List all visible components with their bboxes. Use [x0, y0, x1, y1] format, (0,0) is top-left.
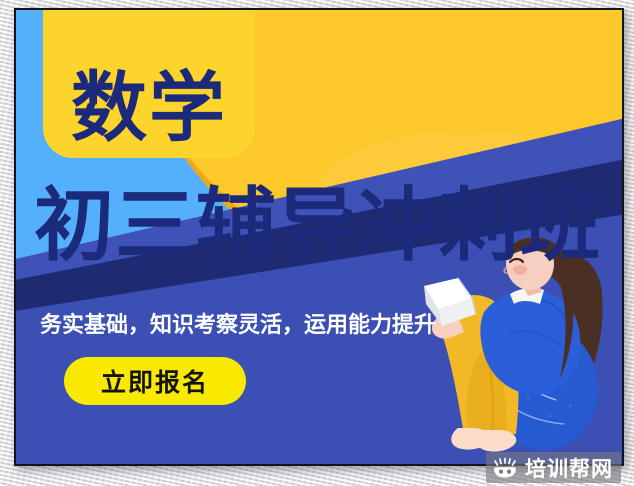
poster-canvas: 数学 初三辅导冲刺班 务实基础，知识考察灵活，运用能力提升 立即报名 [16, 10, 622, 464]
page-backdrop: 数学 初三辅导冲刺班 务实基础，知识考察灵活，运用能力提升 立即报名 [0, 0, 634, 486]
subject-label: 数学 [71, 70, 227, 146]
site-watermark: 培训帮网 [486, 452, 621, 483]
enroll-now-button[interactable]: 立即报名 [64, 357, 246, 405]
promo-poster-card: 数学 初三辅导冲刺班 务实基础，知识考察灵活，运用能力提升 立即报名 [14, 8, 624, 466]
page-title: 初三辅导冲刺班 [34, 186, 614, 266]
subject-chip: 数学 [43, 10, 255, 158]
enroll-now-label: 立即报名 [101, 363, 209, 399]
poster-subtitle: 务实基础，知识考察灵活，运用能力提升 [40, 307, 436, 339]
site-watermark-text: 培训帮网 [525, 453, 613, 483]
sun-face-logo-icon [492, 457, 518, 479]
